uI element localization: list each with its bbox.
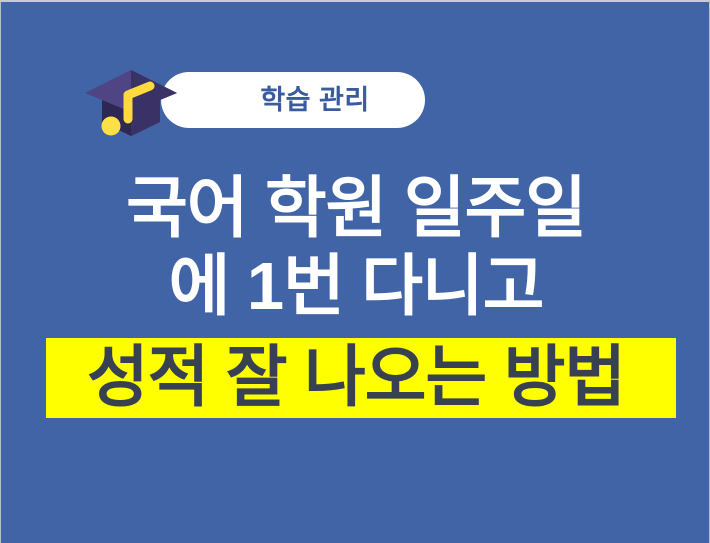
category-badge[interactable]: 학습 관리: [161, 72, 425, 128]
badge-row: 학습 관리: [1, 64, 710, 140]
headline-line-1: 국어 학원 일주일: [1, 170, 710, 248]
category-badge-label: 학습 관리: [260, 87, 369, 114]
graduation-cap-icon: [71, 64, 191, 140]
headline-block: 국어 학원 일주일 에 1번 다니고 성적 잘 나오는 방법: [1, 170, 710, 418]
headline-line-2: 에 1번 다니고: [1, 248, 710, 326]
headline-line-3: 성적 잘 나오는 방법: [1, 338, 710, 418]
thumbnail-card: 학습 관리 국어 학원 일주일 에 1번 다니고: [0, 0, 710, 543]
headline-line-3-wrapper: 성적 잘 나오는 방법: [1, 338, 710, 418]
